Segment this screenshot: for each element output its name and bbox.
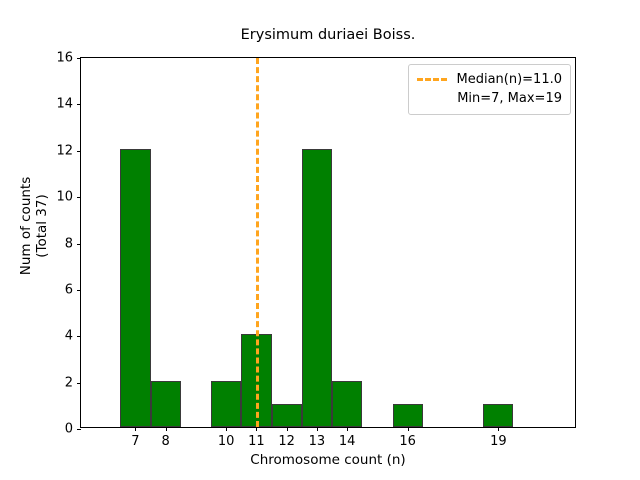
bar: [332, 381, 362, 427]
x-tick-label: 19: [490, 434, 507, 449]
y-tick-label: 6: [65, 282, 73, 297]
y-tick-mark: [77, 336, 81, 337]
x-tick-label: 11: [248, 434, 265, 449]
legend-entry-median: Median(n)=11.0: [417, 70, 562, 89]
x-tick-mark: [287, 427, 288, 431]
y-tick-mark: [77, 290, 81, 291]
y-tick-mark: [77, 244, 81, 245]
bar: [393, 404, 423, 427]
y-tick-mark: [77, 151, 81, 152]
y-tick-mark: [77, 383, 81, 384]
x-tick-label: 16: [399, 434, 416, 449]
y-tick-label: 14: [56, 97, 73, 112]
y-axis-label: Num of counts (Total 37): [18, 26, 50, 426]
plot-area: 0246810121416 7810111213141619 Median(n)…: [80, 57, 576, 428]
bar: [302, 149, 332, 427]
y-tick-mark: [77, 197, 81, 198]
x-tick-mark: [226, 427, 227, 431]
x-tick-mark: [408, 427, 409, 431]
x-axis-label: Chromosome count (n): [80, 452, 576, 468]
bar: [272, 404, 302, 427]
dashed-line-icon: [417, 78, 447, 81]
x-tick-label: 8: [162, 434, 170, 449]
bar: [211, 381, 241, 427]
x-tick-label: 13: [309, 434, 326, 449]
y-tick-label: 10: [56, 190, 73, 205]
legend-label-minmax: Min=7, Max=19: [457, 91, 562, 106]
x-tick-label: 14: [339, 434, 356, 449]
bar: [483, 404, 513, 427]
histogram-figure: Erysimum duriaei Boiss. 0246810121416 78…: [0, 0, 640, 480]
x-tick-mark: [317, 427, 318, 431]
y-axis-label-line1: Num of counts: [18, 177, 34, 276]
bar: [151, 381, 181, 427]
x-tick-mark: [256, 427, 257, 431]
median-line: [256, 58, 259, 427]
page-title: Erysimum duriaei Boiss.: [80, 27, 576, 43]
bar: [120, 149, 150, 427]
y-tick-label: 8: [65, 236, 73, 251]
legend-label-median: Median(n)=11.0: [456, 72, 562, 87]
x-tick-label: 7: [131, 434, 139, 449]
x-tick-mark: [135, 427, 136, 431]
legend-entry-minmax: Min=7, Max=19: [417, 89, 562, 108]
y-axis-label-line2: (Total 37): [34, 194, 50, 258]
legend: Median(n)=11.0 Min=7, Max=19: [408, 64, 571, 115]
y-tick-label: 4: [65, 329, 73, 344]
y-tick-mark: [77, 58, 81, 59]
x-tick-label: 10: [218, 434, 235, 449]
y-tick-label: 16: [56, 51, 73, 66]
y-tick-mark: [77, 104, 81, 105]
x-tick-mark: [498, 427, 499, 431]
y-tick-mark: [77, 429, 81, 430]
y-tick-label: 2: [65, 375, 73, 390]
x-tick-mark: [166, 427, 167, 431]
x-tick-label: 12: [278, 434, 295, 449]
y-tick-label: 0: [65, 422, 73, 437]
x-tick-mark: [347, 427, 348, 431]
y-tick-label: 12: [56, 143, 73, 158]
